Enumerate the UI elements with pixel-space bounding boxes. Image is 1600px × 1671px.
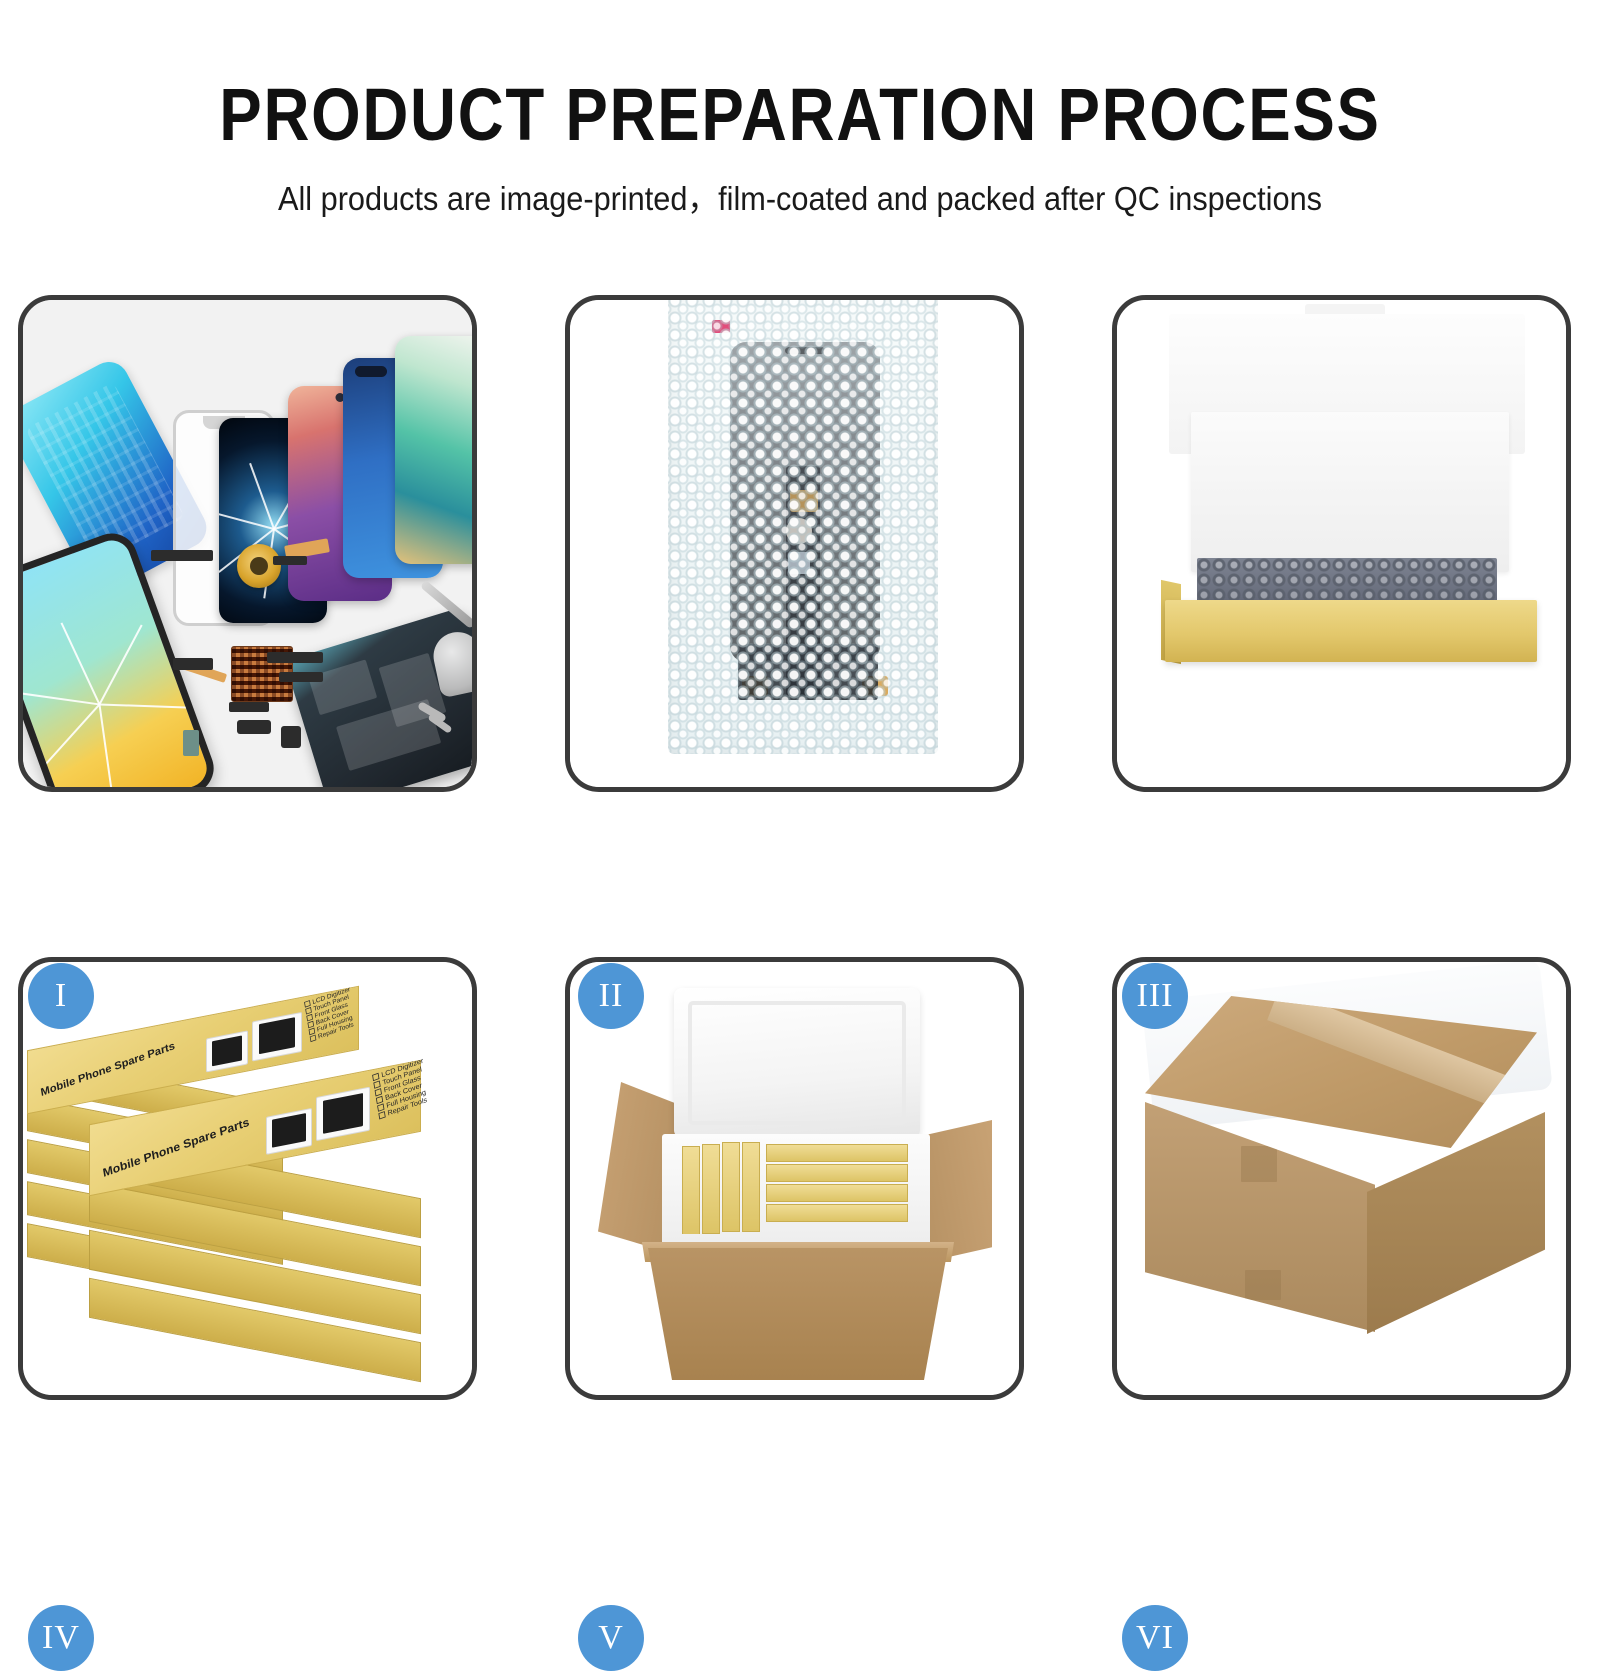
packed-box — [702, 1144, 720, 1234]
step-card-3[interactable] — [1112, 295, 1571, 792]
process-step-grid: I II III — [0, 285, 1600, 1415]
page-title: PRODUCT PREPARATION PROCESS — [112, 78, 1488, 152]
packed-box — [766, 1184, 908, 1202]
step-badge-6: VI — [1122, 1605, 1188, 1671]
step-2-image — [570, 300, 1019, 787]
box-screen-photo-front-1 — [266, 1108, 312, 1155]
packed-retail-boxes — [682, 1142, 910, 1234]
step-card-4[interactable]: Mobile Phone Spare Parts LCD Digitizer T… — [18, 957, 477, 1400]
step-card-1[interactable] — [18, 295, 477, 792]
step-badge-3: III — [1122, 963, 1188, 1029]
packed-box — [766, 1144, 908, 1162]
box-screen-photo-front-2 — [316, 1087, 370, 1141]
checkbox-icon — [310, 1035, 317, 1043]
step-card-5[interactable] — [565, 957, 1024, 1400]
carton-body-icon — [648, 1248, 948, 1380]
bubble-texture-overlay — [668, 300, 938, 754]
foam-lid-icon — [674, 988, 920, 1138]
step-card-6[interactable] — [1112, 957, 1571, 1400]
connector-icon-3 — [279, 672, 323, 682]
step-badge-4: IV — [28, 1605, 94, 1671]
retail-box-stack: Mobile Phone Spare Parts LCD Digitizer T… — [23, 962, 472, 1395]
page-subtitle: All products are image-printed，film-coat… — [56, 182, 1544, 215]
step-6-image — [1117, 962, 1566, 1395]
packed-box — [766, 1204, 908, 1222]
packed-box — [682, 1146, 700, 1234]
phone-back-housing-icon — [284, 606, 472, 787]
connector-icon-2 — [267, 652, 323, 663]
step-3-image — [1117, 300, 1566, 787]
step-badge-5: V — [578, 1605, 644, 1671]
speaker-icon — [281, 726, 301, 748]
box-screen-photo-rear-1 — [206, 1030, 248, 1072]
step-badge-2: II — [578, 963, 644, 1029]
tape-tab-icon-1 — [1241, 1146, 1277, 1182]
retail-box-checklist-front: LCD Digitizer Touch Panel Front Glass Ba… — [372, 1056, 430, 1120]
carton-front-face-icon — [1145, 1102, 1375, 1332]
packed-box — [766, 1164, 908, 1182]
step-card-2[interactable] — [565, 295, 1024, 792]
step-5-image — [570, 962, 1019, 1395]
camera-module-icon — [237, 720, 271, 734]
tape-tab-icon-2 — [1245, 1270, 1281, 1300]
teal-phone-icon — [395, 336, 472, 564]
step-4-image: Mobile Phone Spare Parts LCD Digitizer T… — [23, 962, 472, 1395]
page-header: PRODUCT PREPARATION PROCESS All products… — [0, 0, 1600, 215]
retail-box-front-2 — [89, 1310, 421, 1350]
packed-box — [742, 1142, 760, 1232]
earpiece-mesh-icon — [151, 550, 213, 561]
white-foam-insert-icon — [1191, 412, 1509, 572]
step-badge-1: I — [28, 963, 94, 1029]
yellow-box-front-icon — [1165, 600, 1537, 662]
checkbox-icon — [378, 1111, 385, 1119]
packed-box — [722, 1142, 740, 1232]
connector-icon-1 — [173, 658, 213, 670]
sim-tray-icon — [183, 730, 199, 756]
retail-box-checklist-rear: LCD Digitizer Touch Panel Front Glass Ba… — [304, 985, 356, 1042]
step-1-image — [23, 300, 472, 787]
flex-cable-icon-2 — [273, 556, 307, 565]
bubble-wrap-bag — [668, 300, 938, 754]
carton-side-face-icon — [1367, 1112, 1545, 1334]
vibration-motor-icon — [229, 702, 269, 712]
box-screen-photo-rear-2 — [252, 1012, 302, 1062]
wireless-charging-coil-icon — [237, 544, 281, 588]
